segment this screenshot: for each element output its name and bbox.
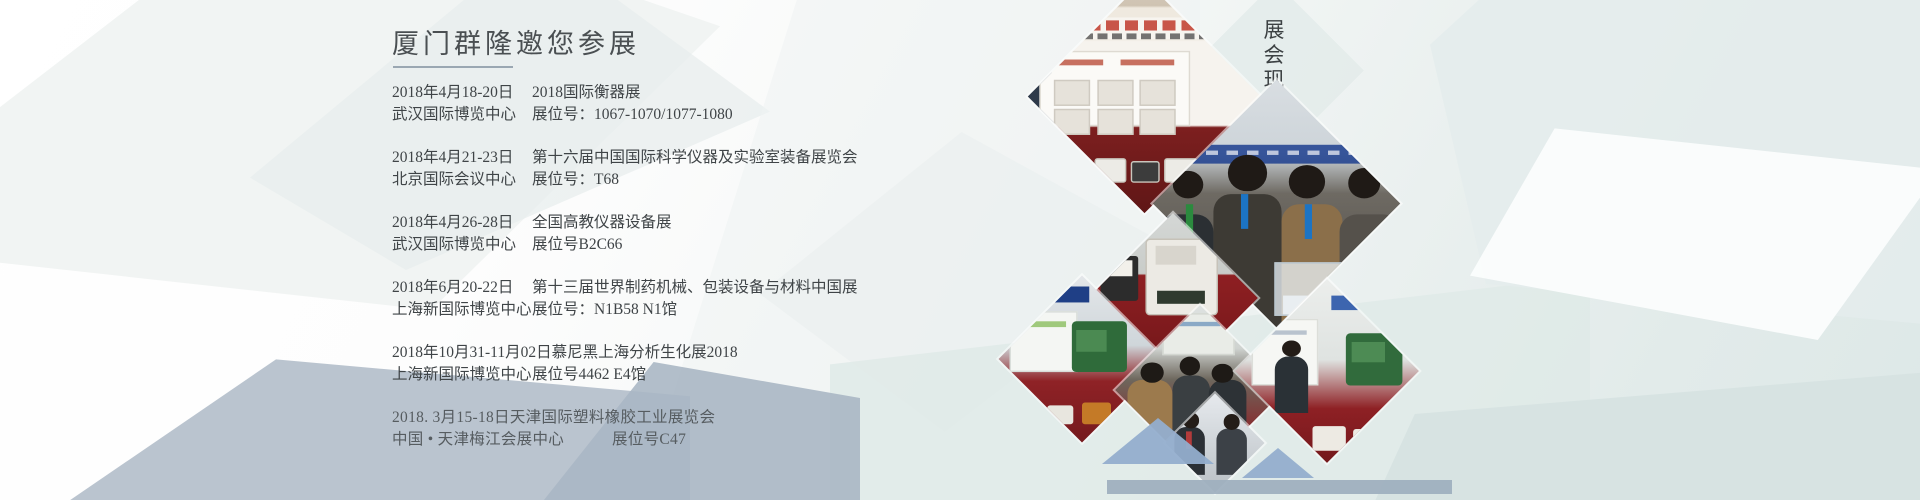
event-name: 第十三届世界制药机械、包装设备与材料中国展 [532,277,858,299]
list-item: 2018年4月21-23日第十六届中国国际科学仪器及实验室装备展览会 北京国际会… [392,147,952,191]
background-polygon-bottom-right [1370,372,1920,500]
photo-detail [1348,168,1381,198]
event-venue: 武汉国际博览中心 [392,104,532,126]
photo-detail [1097,80,1133,107]
event-date: 2018年4月21-23日 [392,147,532,169]
photo-detail [1289,165,1325,198]
photo-detail [1014,403,1041,424]
photo-detail [1331,296,1395,311]
event-row-primary: 2018年4月26-28日全国高教仪器设备展 [392,212,952,234]
vertical-label-char: 会 [1258,43,1292,68]
photo-detail [1145,239,1218,315]
photo-detail [1097,108,1133,135]
exhibition-list: 2018年4月18-20日2018国际衡器展 武汉国际博览中心展位号：1067-… [392,82,952,472]
event-row-primary: 2018年6月20-22日第十三届世界制药机械、包装设备与材料中国展 [392,277,952,299]
background-polygon-right [1430,0,1920,330]
triangle-decoration-large [1102,418,1214,464]
event-name: 全国高教仪器设备展 [532,212,672,234]
photo-detail [1072,321,1127,372]
photo-detail [1346,333,1403,386]
event-date: 2018年4月18-20日 [392,82,532,104]
event-row-secondary: 上海新国际博览中心展位号4462 E4馆 [392,364,952,386]
event-row-primary: 2018. 3月15-18日天津国际塑料橡胶工业展览会 [392,407,952,429]
list-item: 2018年10月31-11月02日慕尼黑上海分析生化展2018 上海新国际博览中… [392,342,952,386]
photo-detail [1312,426,1346,450]
event-name: 第十六届中国国际科学仪器及实验室装备展览会 [532,147,858,169]
event-name: 2018国际衡器展 [532,82,641,104]
event-row-primary: 2018年4月18-20日2018国际衡器展 [392,82,952,104]
exhibition-banner: 厦门群隆邀您参展 2018年4月18-20日2018国际衡器展 武汉国际博览中心… [0,0,1920,500]
text-column: 厦门群隆邀您参展 2018年4月18-20日2018国际衡器展 武汉国际博览中心… [0,0,1000,500]
bottom-bar-decoration [1107,480,1452,494]
event-date: 2018年4月26-28日 [392,212,532,234]
background-polygon-right-highlight [1470,110,1920,340]
event-date: 2018年10月31-11月02日 [392,342,552,364]
photo-detail [1179,357,1200,376]
photo-detail [1304,204,1312,240]
triangle-decoration-small [1242,448,1314,478]
event-booth: 展位号C47 [612,429,686,451]
photo-detail [1353,429,1383,450]
vertical-label-char: 展 [1258,18,1292,43]
event-row-primary: 2018年4月21-23日第十六届中国国际科学仪器及实验室装备展览会 [392,147,952,169]
list-item: 2018年4月26-28日全国高教仪器设备展 武汉国际博览中心展位号B2C66 [392,212,952,256]
photo-detail [1274,356,1308,413]
photo-detail [1140,108,1176,135]
photo-detail [1054,108,1090,135]
event-venue: 武汉国际博览中心 [392,234,532,256]
photo-detail [1056,158,1090,182]
photo-detail [1141,362,1164,383]
photo-detail [1140,80,1176,107]
event-booth: 展位号：1067-1070/1077-1080 [532,104,733,126]
event-booth: 展位号4462 E4馆 [532,364,646,386]
event-booth: 展位号：N1B58 N1馆 [532,299,677,321]
photo-detail [1049,20,1236,31]
photo-detail [1228,155,1266,191]
event-date: 2018. 3月15-18日天津国际塑料橡胶工业展览会 [392,407,715,429]
photo-detail [1010,311,1078,372]
photo-detail [1212,364,1233,383]
list-item: 2018年4月18-20日2018国际衡器展 武汉国际博览中心展位号：1067-… [392,82,952,126]
photo-detail [1094,158,1126,182]
event-row-secondary: 武汉国际博览中心展位号：1067-1070/1077-1080 [392,104,952,126]
event-date: 2018年6月20-22日 [392,277,532,299]
photo-detail [1130,161,1159,183]
title-underline [393,66,513,68]
event-venue: 上海新国际博览中心 [392,299,532,321]
photo-detail [1068,33,1207,39]
photo-detail [1054,80,1090,107]
event-booth: 展位号B2C66 [532,234,622,256]
event-row-primary: 2018年10月31-11月02日慕尼黑上海分析生化展2018 [392,342,952,364]
photo-detail [1000,287,1089,302]
list-item: 2018. 3月15-18日天津国际塑料橡胶工业展览会 中国 • 天津梅江会展中… [392,407,952,451]
photo-detail [1241,193,1249,229]
event-venue: 中国 • 天津梅江会展中心 [392,429,612,451]
event-venue: 上海新国际博览中心 [392,364,532,386]
page-title: 厦门群隆邀您参展 [392,22,640,61]
event-venue: 北京国际会议中心 [392,169,532,191]
event-row-secondary: 中国 • 天津梅江会展中心展位号C47 [392,429,952,451]
photo-detail [1100,256,1138,301]
photo-detail [1223,415,1239,430]
list-item: 2018年6月20-22日第十三届世界制药机械、包装设备与材料中国展 上海新国际… [392,277,952,321]
event-row-secondary: 北京国际会议中心展位号：T68 [392,169,952,191]
event-row-secondary: 上海新国际博览中心展位号：N1B58 N1馆 [392,299,952,321]
event-row-secondary: 武汉国际博览中心展位号B2C66 [392,234,952,256]
event-name: 慕尼黑上海分析生化展2018 [552,342,738,364]
event-booth: 展位号：T68 [532,169,619,191]
photo-detail [1048,405,1074,424]
